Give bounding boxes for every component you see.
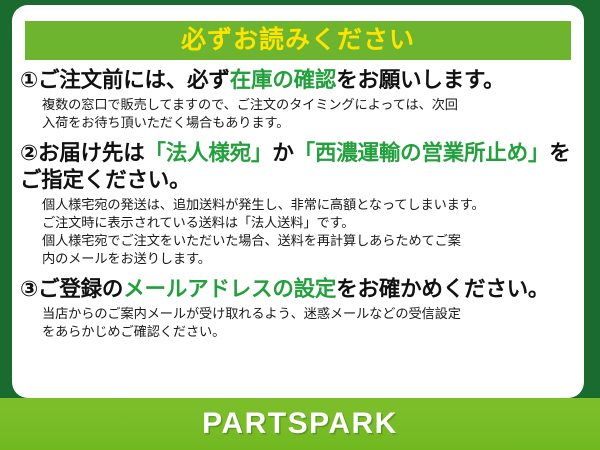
notice-item-2-heading-before: お届け先は bbox=[38, 141, 145, 165]
notice-card: 必ずお読みください ①ご注文前には、必ず在庫の確認をお願いします。 複数の窓口で… bbox=[12, 5, 584, 398]
notice-item-3-sub-line-2: をあらかじめご確認ください。 bbox=[42, 323, 576, 341]
notice-item-2-heading: ②お届け先は「法人様宛」か「西濃運輸の営業所止め」をご指定ください。 bbox=[20, 140, 576, 194]
notice-item-1-heading-before: ご注文前には、必ず bbox=[38, 68, 230, 92]
notice-item-3-heading-highlight: メールアドレスの設定 bbox=[123, 277, 336, 301]
notice-item-3-heading-before: ご登録の bbox=[38, 277, 123, 301]
notice-item-1-sub-line-1: 複数の窓口で販売してますので、ご注文のタイミングによっては、次回 bbox=[42, 96, 576, 114]
notice-item-3-heading-after: をお確かめください。 bbox=[336, 277, 549, 301]
notice-item-3-number: ③ bbox=[20, 277, 38, 301]
notice-items: ①ご注文前には、必ず在庫の確認をお願いします。 複数の窓口で販売してますので、ご… bbox=[12, 67, 584, 348]
notice-item-2-heading-highlight: 「法人様宛」 bbox=[145, 141, 273, 165]
notice-footer: PARTSPARK bbox=[0, 398, 600, 450]
notice-item-3: ③ご登録のメールアドレスの設定をお確かめください。 当店からのご案内メールが受け… bbox=[20, 276, 576, 342]
notice-item-2-heading-highlight-2: 「西濃運輸の営業所止め」 bbox=[294, 141, 550, 165]
notice-item-2-number: ② bbox=[20, 141, 38, 165]
notice-item-3-sub: 当店からのご案内メールが受け取れるよう、迷惑メールなどの受信設定 をあらかじめご… bbox=[20, 305, 576, 341]
notice-item-2-sub-line-2: ご注文時に表示されている送料は「法人送料」です。 bbox=[42, 214, 576, 232]
notice-item-3-sub-line-1: 当店からのご案内メールが受け取れるよう、迷惑メールなどの受信設定 bbox=[42, 305, 576, 323]
notice-item-2-heading-middle: か bbox=[272, 141, 293, 165]
notice-frame: 必ずお読みください ①ご注文前には、必ず在庫の確認をお願いします。 複数の窓口で… bbox=[0, 0, 600, 450]
notice-item-1-sub-line-2: 入荷をお待ち頂いただく場合もあります。 bbox=[42, 114, 576, 132]
notice-item-2-sub-line-1: 個人様宅宛の発送は、追加送料が発生し、非常に高額となってしまいます。 bbox=[42, 196, 576, 214]
notice-item-1: ①ご注文前には、必ず在庫の確認をお願いします。 複数の窓口で販売してますので、ご… bbox=[20, 67, 576, 133]
notice-item-1-number: ① bbox=[20, 68, 38, 92]
notice-item-1-sub: 複数の窓口で販売してますので、ご注文のタイミングによっては、次回 入荷をお待ち頂… bbox=[20, 96, 576, 132]
banner-title: 必ずお読みください bbox=[181, 28, 415, 53]
notice-item-2: ②お届け先は「法人様宛」か「西濃運輸の営業所止め」をご指定ください。 個人様宅宛… bbox=[20, 140, 576, 269]
notice-item-1-heading-highlight: 在庫の確認 bbox=[230, 68, 337, 92]
notice-item-2-sub-line-3: 個人様宅宛でご注文をいただいた場合、送料を再計算しあらためてご案 bbox=[42, 232, 576, 250]
notice-item-1-heading: ①ご注文前には、必ず在庫の確認をお願いします。 bbox=[20, 67, 576, 94]
notice-item-3-heading: ③ご登録のメールアドレスの設定をお確かめください。 bbox=[20, 276, 576, 303]
notice-item-2-sub: 個人様宅宛の発送は、追加送料が発生し、非常に高額となってしまいます。 ご注文時に… bbox=[20, 196, 576, 269]
notice-item-2-sub-line-4: 内のメールをお送りします。 bbox=[42, 250, 576, 268]
brand-logo-text: PARTSPARK bbox=[202, 409, 398, 439]
notice-banner: 必ずお読みください bbox=[25, 21, 571, 60]
notice-item-1-heading-after: をお願いします。 bbox=[336, 68, 504, 92]
